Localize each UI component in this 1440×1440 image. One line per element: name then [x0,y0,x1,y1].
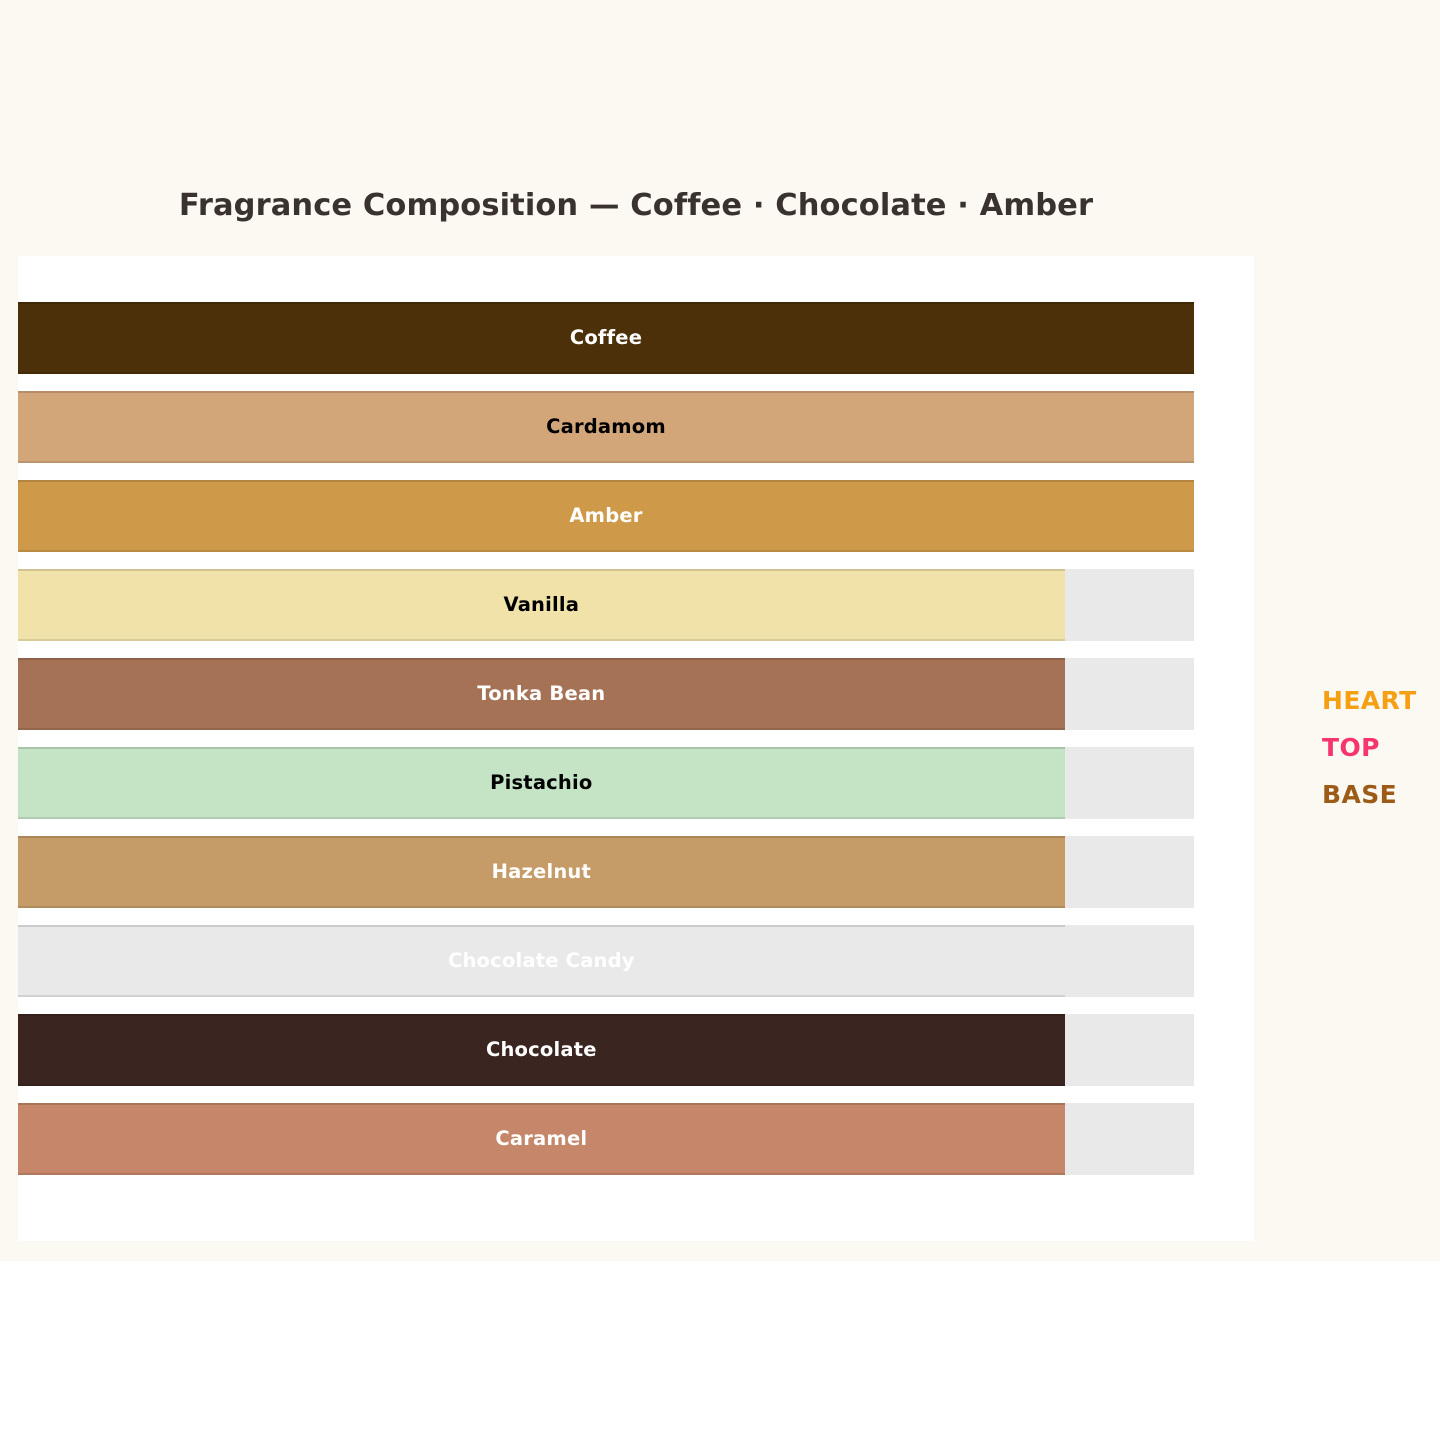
bar-track: Tonka Bean [18,658,1194,730]
bar-label: Hazelnut [492,860,591,883]
bar-chocolate-candy[interactable]: Chocolate Candy [18,925,1065,997]
bar-hazelnut[interactable]: Hazelnut [18,836,1065,908]
bar-tonka-bean[interactable]: Tonka Bean [18,658,1065,730]
bar-track: Chocolate Candy [18,925,1194,997]
bar-label: Pistachio [490,771,592,794]
bar-label: Caramel [495,1127,587,1150]
bar-chocolate[interactable]: Chocolate [18,1014,1065,1086]
page-title: Fragrance Composition — Coffee · Chocola… [18,188,1254,223]
legend-item-base[interactable]: BASE [1322,771,1440,818]
bar-track: Amber [18,480,1194,552]
bar-label: Amber [569,504,642,527]
bar-track: Chocolate [18,1014,1194,1086]
bar-track: Coffee [18,302,1194,374]
bar-label: Cardamom [546,415,666,438]
bar-label: Tonka Bean [477,682,605,705]
bar-coffee[interactable]: Coffee [18,302,1194,374]
bar-vanilla[interactable]: Vanilla [18,569,1065,641]
legend-item-heart[interactable]: HEART [1322,677,1440,724]
bar-track: Pistachio [18,747,1194,819]
bar-cardamom[interactable]: Cardamom [18,391,1194,463]
chart-screenshot: Fragrance Composition — Coffee · Chocola… [0,0,1440,1440]
bar-amber[interactable]: Amber [18,480,1194,552]
bar-track: Caramel [18,1103,1194,1175]
figure-canvas: Fragrance Composition — Coffee · Chocola… [0,0,1440,1261]
plot-panel: CoffeeCardamomAmberVanillaTonka BeanPist… [18,256,1254,1241]
bar-track: Cardamom [18,391,1194,463]
bar-label: Chocolate [486,1038,597,1061]
bar-list: CoffeeCardamomAmberVanillaTonka BeanPist… [18,302,1254,1198]
bar-label: Coffee [570,326,642,349]
legend-item-top[interactable]: TOP [1322,724,1440,771]
bar-track: Vanilla [18,569,1194,641]
bar-track: Hazelnut [18,836,1194,908]
bar-pistachio[interactable]: Pistachio [18,747,1065,819]
legend: HEARTTOPBASE [1322,677,1440,818]
bar-label: Chocolate Candy [448,949,635,972]
bar-label: Vanilla [503,593,579,616]
bar-caramel[interactable]: Caramel [18,1103,1065,1175]
